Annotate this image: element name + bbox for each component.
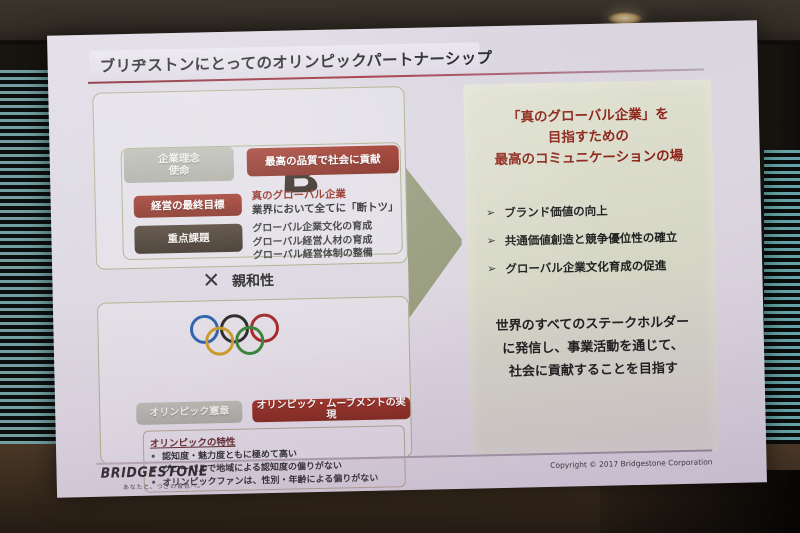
arrow-bullet-icon: ➢ (486, 206, 496, 220)
benefit-text: グローバル企業文化育成の促進 (505, 258, 666, 276)
right-arrow-icon (400, 167, 469, 318)
list-item: ➢ グローバル企業文化育成の促進 (487, 257, 709, 277)
olympic-charter-tag: オリンピック憲章 (136, 401, 242, 425)
arrow-bullet-icon: ➢ (487, 262, 497, 276)
final-goal-tag: 経営の最終目標 (134, 194, 242, 218)
corporate-goal-text: 真のグローバル企業 業界において全てに「断トツ」 グローバル企業文化の育成 グロ… (251, 187, 403, 263)
list-item: ➢ 共通価値創造と競争優位性の確立 (486, 229, 708, 249)
key-message-panel: 「真のグローバル企業」を 目指すための 最高のコミュニケーションの場 ➢ ブラン… (463, 79, 719, 456)
footer-brand: BRIDGESTONE あなたと、つぎの景色へ。 (100, 463, 208, 491)
priority-list: グローバル企業文化の育成 グローバル経営人材の育成 グローバル経営体制の整備 (252, 219, 403, 263)
headline-line: 最高のコミュニケーションの場 (475, 145, 703, 171)
multiply-icon: ✕ (202, 270, 220, 291)
list-item: グローバル経営体制の整備 (253, 246, 403, 263)
corporate-philosophy-panel: 企業理念 使命 最高の品質で社会に貢献 経営の最終目標 重点課題 真のグローバル… (92, 86, 408, 270)
headline: 「真のグローバル企業」を 目指すための 最高のコミュニケーションの場 (474, 104, 703, 172)
benefit-text: ブランド価値の向上 (504, 204, 608, 221)
affinity-connector: ✕ 親和性 (202, 269, 274, 292)
affinity-label: 親和性 (232, 269, 274, 290)
olympic-movement-tag: オリンピック・ムーブメントの実現 (252, 397, 410, 422)
olympic-rings-icon (184, 312, 315, 357)
priority-issues-tag: 重点課題 (134, 224, 243, 254)
page-title: ブリヂストンにとってのオリンピックパートナーシップ (99, 46, 492, 77)
benefit-list: ➢ ブランド価値の向上 ➢ 共通価値創造と競争優位性の確立 ➢ グローバル企業文… (486, 201, 710, 290)
projection-screen: ブリヂストンにとってのオリンピックパートナーシップ 企業理念 使命 最高の品質で… (47, 20, 767, 497)
brand-wordmark: BRIDGESTONE (100, 463, 208, 481)
copyright-notice: Copyright © 2017 Bridgestone Corporation (526, 457, 712, 470)
benefit-text: 共通価値創造と競争優位性の確立 (505, 230, 678, 249)
closing-line: 社会に貢献することを目指す (479, 357, 707, 385)
brand-tagline: あなたと、つぎの景色へ。 (123, 480, 209, 491)
presentation-slide: ブリヂストンにとってのオリンピックパートナーシップ 企業理念 使命 最高の品質で… (47, 20, 767, 497)
arrow-bullet-icon: ➢ (486, 234, 496, 248)
list-item: ➢ ブランド価値の向上 (486, 201, 708, 221)
goal-subline: 業界において全てに「断トツ」 (252, 201, 402, 218)
closing-statement: 世界のすべてのステークホルダー に発信し、事業活動を通じて、 社会に貢献すること… (478, 311, 707, 384)
window-blinds-right (764, 150, 800, 480)
screenshot-root: ブリヂストンにとってのオリンピックパートナーシップ 企業理念 使命 最高の品質で… (0, 0, 800, 533)
